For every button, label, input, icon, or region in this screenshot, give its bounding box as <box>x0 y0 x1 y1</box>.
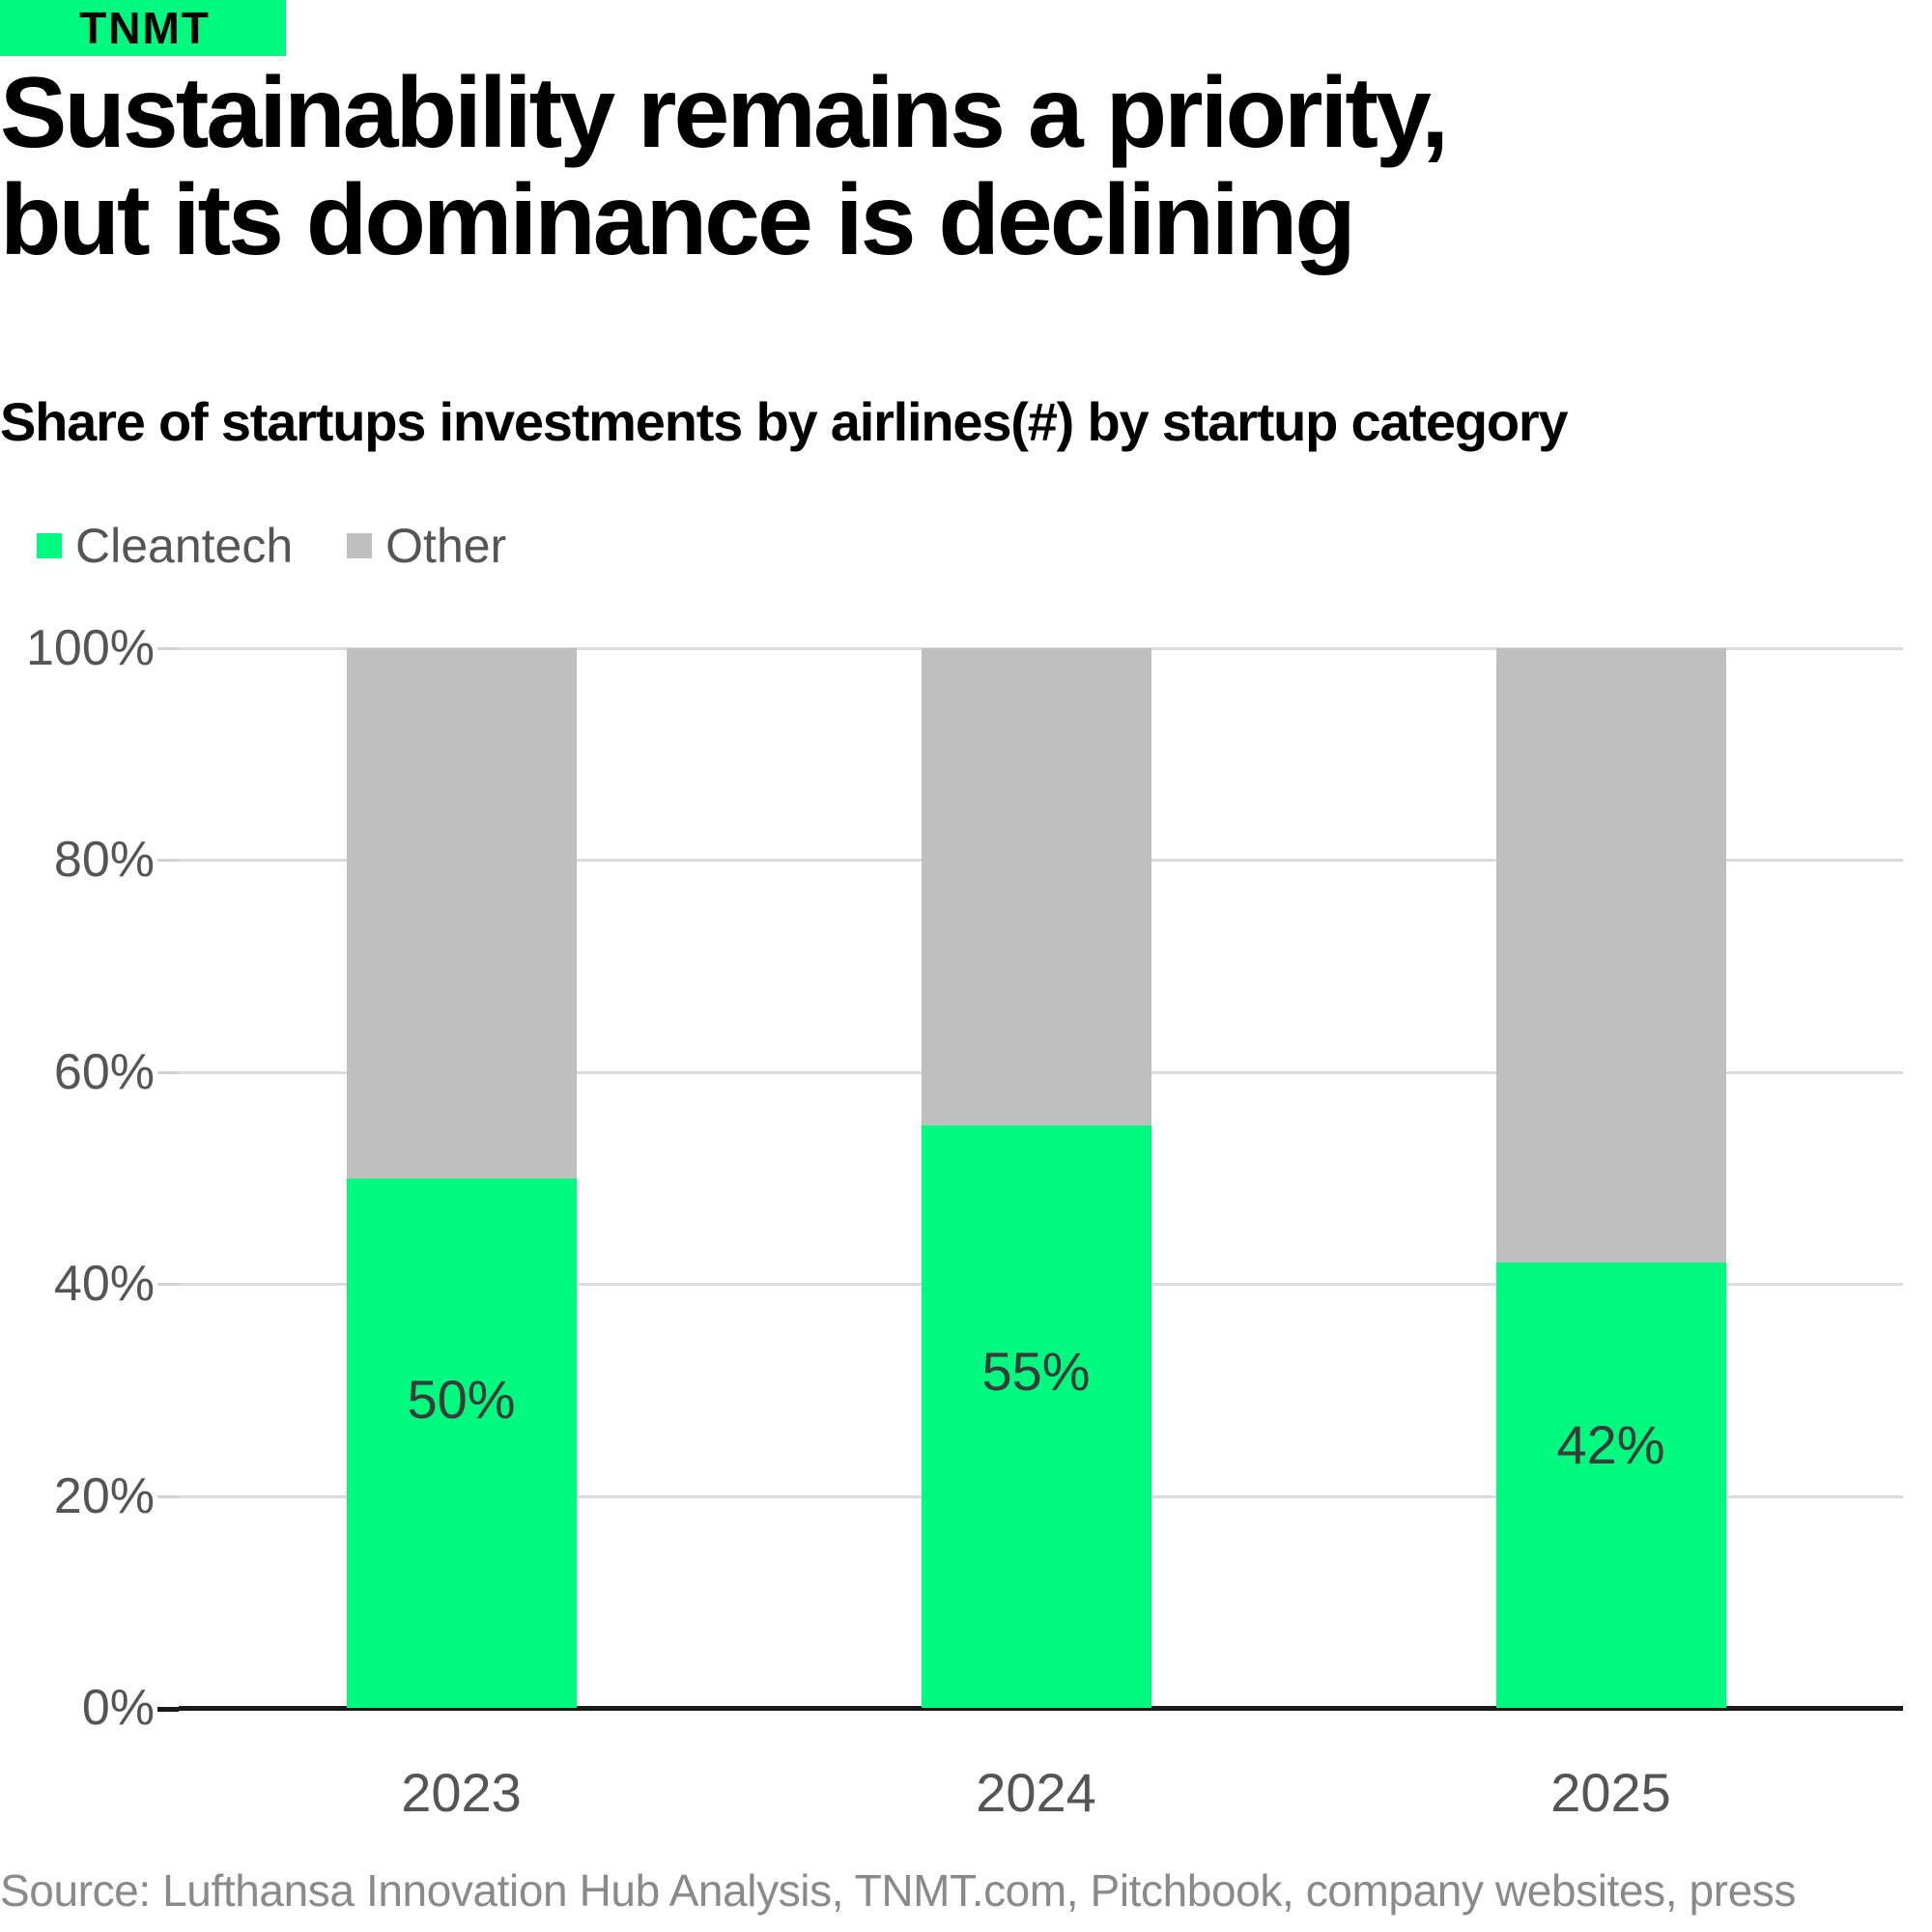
y-axis-tick-label: 20% <box>0 1471 155 1521</box>
y-axis-tick-label: 80% <box>0 835 155 885</box>
bar-segment-cleantech[interactable] <box>922 1125 1151 1708</box>
bar-segment-other[interactable] <box>1496 648 1726 1263</box>
legend-item-other[interactable]: Other <box>347 522 506 570</box>
y-axis-tick-label: 40% <box>0 1259 155 1309</box>
legend-item-cleantech[interactable]: Cleantech <box>37 522 293 570</box>
square-icon <box>37 533 62 558</box>
bar-segment-other[interactable] <box>347 648 577 1179</box>
y-axis-tick-label: 60% <box>0 1047 155 1097</box>
y-axis-tick-mark <box>157 1071 179 1074</box>
y-axis-tick-mark <box>157 1707 179 1712</box>
chart-legend: Cleantech Other <box>37 522 506 570</box>
legend-label-other: Other <box>385 522 506 570</box>
logo-wordmark: TNMT <box>70 6 216 50</box>
x-axis-tick-label: 2025 <box>1496 1766 1726 1820</box>
bar-group[interactable]: 42% <box>1496 648 1726 1708</box>
bar-group[interactable]: 50% <box>347 648 577 1708</box>
page-title: Sustainability remains a priority, but i… <box>0 60 1797 275</box>
bar-group[interactable]: 55% <box>922 648 1151 1708</box>
source-note: Source: Lufthansa Innovation Hub Analysi… <box>0 1864 1932 1918</box>
y-axis-tick-label: 0% <box>0 1683 155 1733</box>
x-axis-tick-label: 2024 <box>922 1766 1151 1820</box>
tnmt-logo: TNMT <box>0 0 286 56</box>
page-title-line-2: but its dominance is declining <box>0 167 1797 274</box>
chart-area: 50%55%42% 0%20%40%60%80%100%202320242025 <box>0 618 1932 1806</box>
page-title-line-1: Sustainability remains a priority, <box>0 60 1797 167</box>
bar-segment-cleantech[interactable] <box>1496 1263 1726 1708</box>
page-subtitle: Share of startups investments by airline… <box>0 392 1922 452</box>
y-axis-tick-mark <box>157 859 179 862</box>
y-axis-tick-mark <box>157 1283 179 1286</box>
x-axis-tick-label: 2023 <box>347 1766 577 1820</box>
y-axis-tick-mark <box>157 647 179 650</box>
y-axis-tick-label: 100% <box>0 623 155 673</box>
bar-segment-other[interactable] <box>922 648 1151 1125</box>
plot-area: 50%55%42% <box>179 648 1903 1708</box>
bar-value-label: 55% <box>922 1345 1151 1399</box>
y-axis-tick-mark <box>157 1495 179 1498</box>
chart-page: TNMT Sustainability remains a priority, … <box>0 0 1932 1932</box>
square-icon <box>347 533 372 558</box>
legend-label-cleantech: Cleantech <box>75 522 293 570</box>
bar-value-label: 42% <box>1496 1418 1726 1472</box>
bar-segment-cleantech[interactable] <box>347 1179 577 1709</box>
bar-value-label: 50% <box>347 1373 577 1427</box>
